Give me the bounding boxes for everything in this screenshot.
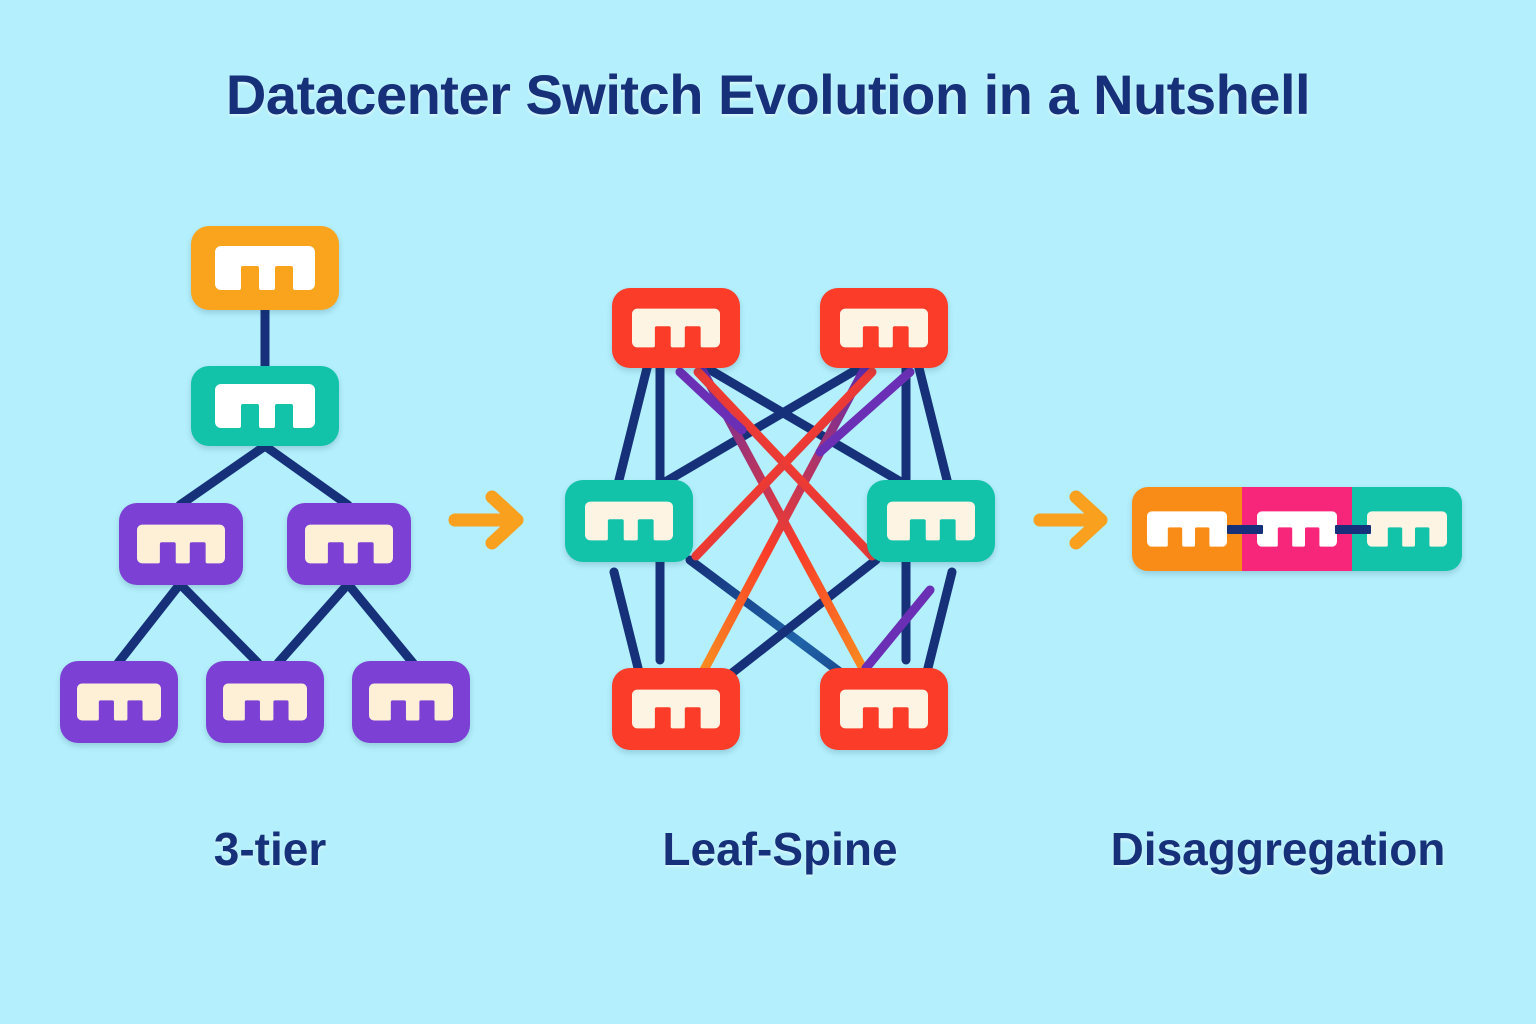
network-switch-icon — [1257, 511, 1337, 547]
link-leaf-mr-spine-tl-highlight — [698, 372, 872, 556]
network-switch-icon — [840, 308, 928, 348]
network-switch-icon — [215, 384, 315, 428]
link-distR-acc2 — [278, 584, 348, 663]
switch-node-leaf-mid-left[interactable] — [565, 480, 693, 562]
switch-node-spine-top-left[interactable] — [612, 288, 740, 368]
section-caption-leaf-spine: Leaf-Spine — [590, 822, 970, 876]
network-switch-icon — [585, 501, 673, 541]
link-spine-tr-spine-bl-highlight — [688, 366, 866, 700]
link-accent-top-right — [820, 372, 910, 452]
arrow-3tier-to-leafspine — [455, 497, 517, 543]
network-switch-icon — [887, 501, 975, 541]
switch-node-aggregation[interactable] — [191, 366, 339, 446]
network-switch-icon — [369, 683, 453, 721]
network-switch-icon — [1367, 511, 1447, 547]
network-switch-icon — [840, 689, 928, 729]
network-switch-icon — [305, 524, 393, 564]
switch-node-spine-bottom-left[interactable] — [612, 668, 740, 750]
switch-node-core[interactable] — [191, 226, 339, 310]
diagram-canvas: Datacenter Switch Evolution in a Nutshel… — [0, 0, 1536, 1024]
link-spine-tl-spine-br-highlight — [700, 366, 880, 700]
disagg-connector-1 — [1227, 525, 1263, 534]
link-distR-acc3 — [348, 584, 413, 663]
link-accent-bottom-right — [866, 590, 930, 668]
switch-node-distribution-right[interactable] — [287, 503, 411, 585]
switch-node-access-1[interactable] — [60, 661, 178, 743]
switch-node-leaf-mid-right[interactable] — [867, 480, 995, 562]
arrow-leafspine-to-disaggregation — [1040, 497, 1101, 543]
link-distL-acc2 — [180, 584, 258, 663]
arrow-group — [455, 497, 1101, 543]
network-switch-icon — [77, 683, 161, 721]
network-switch-icon — [215, 246, 315, 290]
section-caption-disaggregation: Disaggregation — [1078, 822, 1478, 876]
network-switch-icon — [632, 308, 720, 348]
link-agg-distR — [265, 446, 348, 505]
switch-node-distribution-left[interactable] — [119, 503, 243, 585]
link-agg-distL — [180, 446, 265, 505]
section-caption-3tier: 3-tier — [80, 822, 460, 876]
switch-node-access-2[interactable] — [206, 661, 324, 743]
switch-node-spine-bottom-right[interactable] — [820, 668, 948, 750]
disagg-connector-2 — [1335, 525, 1371, 534]
disaggregation-bar[interactable] — [1132, 487, 1462, 571]
switch-node-spine-top-right[interactable] — [820, 288, 948, 368]
link-accent-top-left — [680, 372, 742, 430]
page-title: Datacenter Switch Evolution in a Nutshel… — [0, 62, 1536, 127]
network-switch-icon — [1147, 511, 1227, 547]
link-leaf-ml-spine-tr-highlight — [696, 372, 872, 556]
switch-node-access-3[interactable] — [352, 661, 470, 743]
network-switch-icon — [632, 689, 720, 729]
link-distL-acc1 — [118, 584, 180, 663]
network-switch-icon — [137, 524, 225, 564]
network-switch-icon — [223, 683, 307, 721]
disagg-segment-hardware[interactable] — [1132, 487, 1242, 571]
